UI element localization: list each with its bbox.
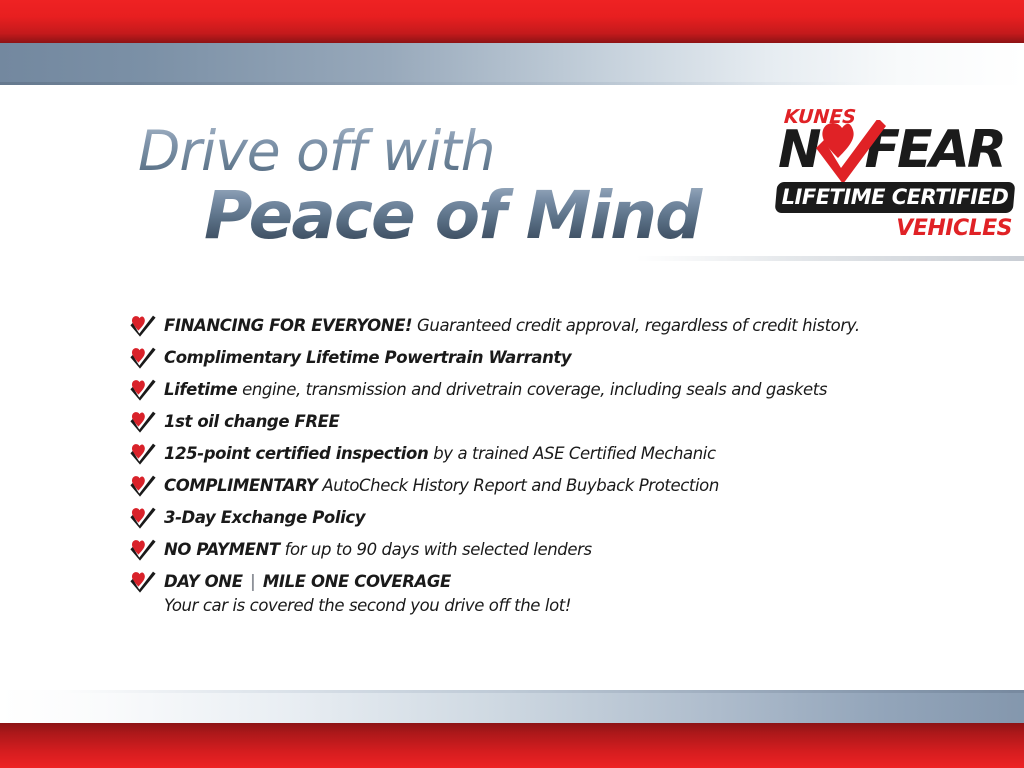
benefit-row: NO PAYMENT for up to 90 days with select… <box>130 534 930 566</box>
benefit-text: 3-Day Exchange Policy <box>164 509 365 527</box>
heart-check-bullet-icon <box>130 475 156 497</box>
benefit-normal-text: AutoCheck History Report and Buyback Pro… <box>317 476 718 495</box>
benefit-row: 1st oil change FREE <box>130 406 930 438</box>
kunes-no-fear-logo: KUNES NFEAR LIFETIME CERTIFIED VEHICLES <box>776 106 1016 246</box>
benefit-text: NO PAYMENT for up to 90 days with select… <box>164 541 592 559</box>
benefit-bold-text: 1st oil change FREE <box>164 412 339 431</box>
headline-line-2: Peace of Mind <box>204 183 738 249</box>
advertisement-page: Drive off with Peace of Mind KUNES NFEAR… <box>0 0 1024 768</box>
benefit-row: 3-Day Exchange Policy <box>130 502 930 534</box>
logo-heart-check-icon <box>812 120 888 186</box>
benefit-bold-text: NO PAYMENT <box>164 540 280 559</box>
headline-divider <box>636 256 1024 261</box>
benefit-bold-text: DAY ONE <box>164 572 243 591</box>
benefit-text: COMPLIMENTARY AutoCheck History Report a… <box>164 477 719 495</box>
benefit-bold-text: COMPLIMENTARY <box>164 476 317 495</box>
benefit-row: Lifetime engine, transmission and drivet… <box>130 374 930 406</box>
top-gray-gradient-band <box>0 43 1024 85</box>
benefit-normal-text: for up to 90 days with selected lenders <box>280 540 592 559</box>
benefit-normal-text: engine, transmission and drivetrain cove… <box>237 380 827 399</box>
benefit-row: Complimentary Lifetime Powertrain Warran… <box>130 342 930 374</box>
benefit-subtext: Your car is covered the second you drive… <box>130 596 930 615</box>
benefit-row: 125-point certified inspection by a trai… <box>130 438 930 470</box>
benefit-text: 1st oil change FREE <box>164 413 339 431</box>
heart-check-bullet-icon <box>130 379 156 401</box>
benefit-text: Complimentary Lifetime Powertrain Warran… <box>164 349 571 367</box>
benefit-bold-text: 3-Day Exchange Policy <box>164 508 365 527</box>
heart-check-bullet-icon <box>130 571 156 593</box>
heart-check-bullet-icon <box>130 347 156 369</box>
benefit-row: FINANCING FOR EVERYONE! Guaranteed credi… <box>130 310 930 342</box>
benefit-bold-text: Lifetime <box>164 380 237 399</box>
bottom-gray-gradient-band <box>0 690 1024 723</box>
headline-block: Drive off with Peace of Mind <box>138 124 738 249</box>
benefit-separator: | <box>243 572 263 591</box>
heart-check-bullet-icon <box>130 315 156 337</box>
benefit-text: 125-point certified inspection by a trai… <box>164 445 716 463</box>
benefit-text: DAY ONE | MILE ONE COVERAGE <box>164 573 451 591</box>
logo-vehicles-label: VEHICLES <box>896 216 1012 241</box>
benefit-row: DAY ONE | MILE ONE COVERAGE <box>130 566 930 598</box>
benefit-row: COMPLIMENTARY AutoCheck History Report a… <box>130 470 930 502</box>
benefit-normal-text: Guaranteed credit approval, regardless o… <box>412 316 860 335</box>
benefit-text: FINANCING FOR EVERYONE! Guaranteed credi… <box>164 317 860 335</box>
top-red-banner-bar <box>0 0 1024 43</box>
heart-check-bullet-icon <box>130 539 156 561</box>
heart-check-bullet-icon <box>130 443 156 465</box>
heart-check-bullet-icon <box>130 507 156 529</box>
logo-certified-label: LIFETIME CERTIFIED <box>776 182 1014 213</box>
benefit-text: Lifetime engine, transmission and drivet… <box>164 381 827 399</box>
benefit-bold-text: Complimentary Lifetime Powertrain Warran… <box>164 348 571 367</box>
heart-check-bullet-icon <box>130 411 156 433</box>
benefit-bold-text: 125-point certified inspection <box>164 444 428 463</box>
bottom-red-banner-bar <box>0 723 1024 768</box>
benefit-normal-text: by a trained ASE Certified Mechanic <box>428 444 715 463</box>
headline-line-1: Drive off with <box>138 124 738 179</box>
benefits-list: FINANCING FOR EVERYONE! Guaranteed credi… <box>130 310 930 615</box>
benefit-bold-text-2: MILE ONE COVERAGE <box>263 572 451 591</box>
benefit-bold-text: FINANCING FOR EVERYONE! <box>164 316 412 335</box>
